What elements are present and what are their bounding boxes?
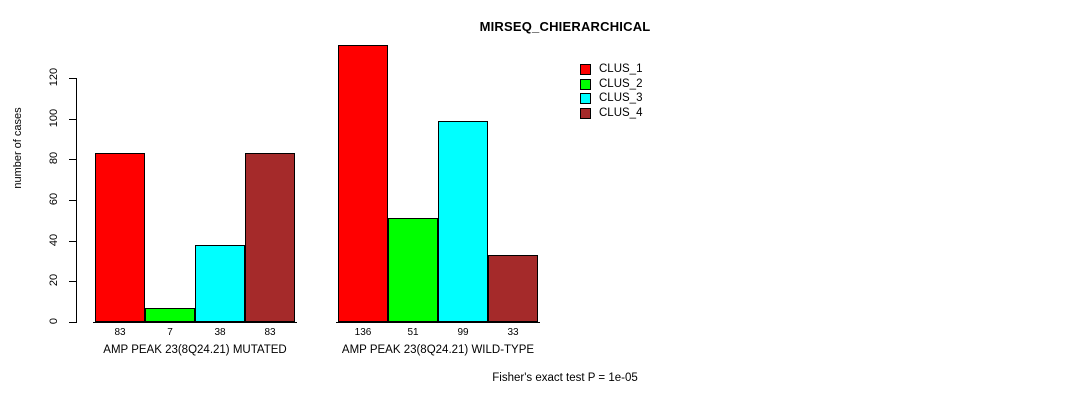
legend-item-label: CLUS_1 [599,62,642,76]
footer-text: Fisher's exact test P = 1e-05 [492,372,638,384]
bar [338,45,388,322]
bar [245,153,295,322]
y-axis-tick-label: 0 [48,306,60,336]
y-axis-tick [69,200,76,201]
y-axis-tick-label: 120 [48,62,60,92]
statistical-annotation: Fisher's exact test P = 1e-05 [0,372,1090,384]
y-axis-tick-label: 60 [48,184,60,214]
bar [145,308,195,322]
y-axis-tick-label: 40 [48,225,60,255]
legend-color-swatch [580,79,591,90]
y-axis-tick-label: 20 [48,265,60,295]
legend-color-swatch [580,93,591,104]
legend-item-label: CLUS_4 [599,106,642,120]
bar-value-label: 83 [95,327,145,338]
y-axis-tick [69,322,76,323]
bar-value-label: 136 [338,327,388,338]
y-axis-tick [69,241,76,242]
barplot-figure: MIRSEQ_CHIERARCHICAL number of cases 020… [0,0,1090,400]
y-axis-tick-label: 100 [48,103,60,133]
bar-value-label: 83 [245,327,295,338]
plot-area: 020406080100120 8373883136519933 AMP PEA… [0,0,1090,400]
bar-value-label: 99 [438,327,488,338]
bar-value-label: 38 [195,327,245,338]
y-axis-line [76,78,77,323]
bar-value-label: 7 [145,327,195,338]
legend-color-swatch [580,64,591,75]
legend-item-label: CLUS_2 [599,77,642,91]
y-axis-tick-label: 80 [48,143,60,173]
legend-color-swatch [580,108,591,119]
group-axis-label: AMP PEAK 23(8Q24.21) WILD-TYPE [288,344,588,356]
y-axis-tick [69,159,76,160]
bar [488,255,538,322]
bar [438,121,488,322]
y-axis-tick [69,119,76,120]
bar [388,218,438,322]
y-axis-tick [69,78,76,79]
legend-item-label: CLUS_3 [599,91,642,105]
x-axis-baseline [336,322,540,323]
x-axis-baseline [93,322,297,323]
bar-value-label: 51 [388,327,438,338]
y-axis-tick [69,281,76,282]
bar [95,153,145,322]
bar [195,245,245,322]
bar-value-label: 33 [488,327,538,338]
